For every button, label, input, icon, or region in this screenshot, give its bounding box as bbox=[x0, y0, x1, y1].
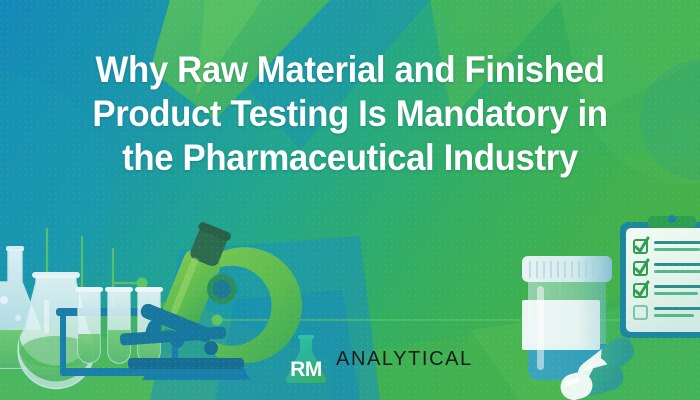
brand-logo[interactable]: RM ANALYTICAL bbox=[282, 334, 473, 384]
checklist-row bbox=[634, 238, 700, 253]
connector-node-dot bbox=[137, 278, 148, 289]
banner-title: Why Raw Material and Finished Product Te… bbox=[0, 48, 700, 180]
test-tube-rack-icon bbox=[56, 308, 182, 376]
title-line-2: Product Testing Is Mandatory in bbox=[21, 92, 679, 136]
logo-mark-text: RM bbox=[282, 358, 330, 382]
test-tube-icon bbox=[105, 287, 133, 363]
microscope-icon bbox=[120, 220, 302, 380]
test-tube-icon bbox=[75, 287, 103, 363]
connector-node-dot bbox=[655, 315, 666, 326]
flask-icon: RM bbox=[282, 334, 330, 384]
article-hero-banner: Why Raw Material and Finished Product Te… bbox=[0, 0, 700, 400]
checklist-row bbox=[634, 282, 700, 297]
checklist-row bbox=[634, 306, 700, 319]
logo-wordmark: ANALYTICAL bbox=[336, 348, 473, 371]
pill-bottle-icon bbox=[522, 256, 612, 380]
erlenmeyer-flask-icon bbox=[0, 246, 56, 368]
clipboard-checklist-icon bbox=[620, 215, 700, 338]
title-line-1: Why Raw Material and Finished bbox=[21, 48, 679, 92]
test-tube-icon bbox=[135, 287, 163, 363]
capsule-icon bbox=[573, 332, 639, 392]
connector-node-dot bbox=[212, 315, 223, 326]
checklist-row bbox=[634, 260, 700, 275]
capsule-icon bbox=[558, 361, 627, 400]
title-line-3: the Pharmaceutical Industry bbox=[21, 136, 679, 180]
round-bottom-flask-icon bbox=[18, 272, 94, 388]
